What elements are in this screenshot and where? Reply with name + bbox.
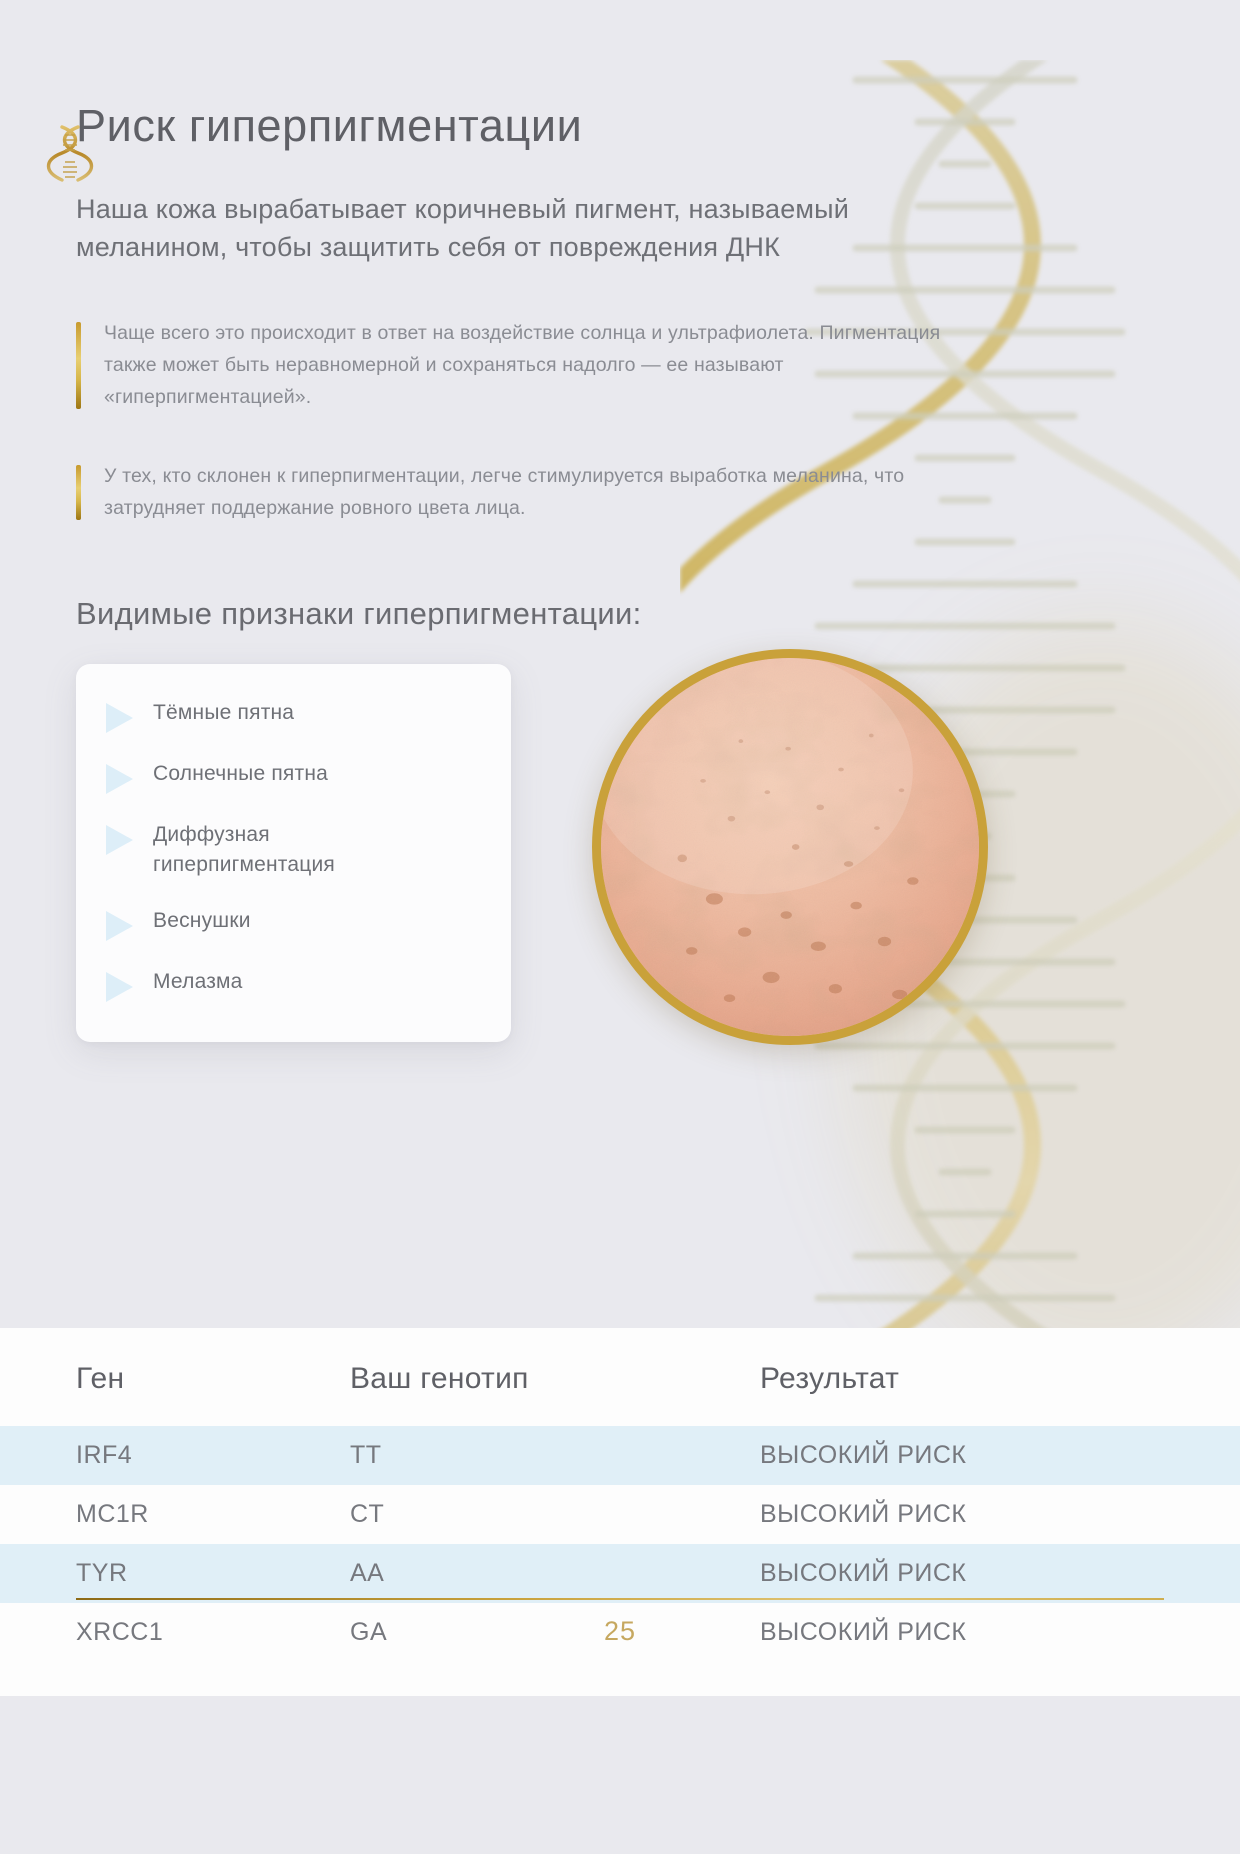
status-badge: ВЫСОКИЙ РИСК	[760, 1544, 1240, 1603]
cell-gene: IRF4	[0, 1426, 350, 1485]
cell-gene: MC1R	[0, 1485, 350, 1544]
page-number: 25	[0, 1616, 1240, 1647]
triangle-right-icon	[106, 825, 133, 855]
cell-genotype: TT	[350, 1426, 760, 1485]
gold-accent-bar	[76, 322, 81, 409]
list-item: Веснушки	[106, 906, 481, 941]
list-item-label: Тёмные пятна	[153, 698, 294, 728]
dna-helix-icon	[44, 122, 96, 188]
list-item: Диффузная гиперпигментация	[106, 820, 481, 880]
status-badge: ВЫСОКИЙ РИСК	[760, 1426, 1240, 1485]
callout-1: Чаще всего это происходит в ответ на воз…	[76, 318, 976, 413]
triangle-right-icon	[106, 911, 133, 941]
callout-2-text: У тех, кто склонен к гиперпигментации, л…	[104, 461, 976, 524]
signs-card: Тёмные пятна Солнечные пятна Диффузная г…	[76, 664, 511, 1042]
table-row: MC1R CT ВЫСОКИЙ РИСК	[0, 1485, 1240, 1544]
page-lede: Наша кожа вырабатывает коричневый пигмен…	[76, 190, 956, 267]
footer-divider	[76, 1598, 1164, 1600]
triangle-right-icon	[106, 764, 133, 794]
table-row: IRF4 TT ВЫСОКИЙ РИСК	[0, 1426, 1240, 1485]
table-row: TYR AA ВЫСОКИЙ РИСК	[0, 1544, 1240, 1603]
triangle-right-icon	[106, 972, 133, 1002]
triangle-right-icon	[106, 703, 133, 733]
column-header-result: Результат	[760, 1328, 1240, 1426]
signs-section-heading: Видимые признаки гиперпигментации:	[76, 596, 1240, 632]
skin-hyperpigmentation-photo	[592, 649, 988, 1045]
column-header-genotype: Ваш генотип	[350, 1328, 760, 1426]
gold-accent-bar	[76, 465, 81, 520]
list-item-label: Диффузная гиперпигментация	[153, 820, 453, 880]
list-item: Солнечные пятна	[106, 759, 481, 794]
list-item: Мелазма	[106, 967, 481, 1002]
list-item-label: Веснушки	[153, 906, 251, 936]
page-footer: 25	[0, 1598, 1240, 1658]
list-item: Тёмные пятна	[106, 698, 481, 733]
cell-genotype: CT	[350, 1485, 760, 1544]
list-item-label: Мелазма	[153, 967, 243, 997]
page-title: Риск гиперпигментации	[76, 100, 1240, 152]
signs-section: Тёмные пятна Солнечные пятна Диффузная г…	[76, 664, 1240, 1042]
status-badge: ВЫСОКИЙ РИСК	[760, 1485, 1240, 1544]
callout-2: У тех, кто склонен к гиперпигментации, л…	[76, 461, 976, 524]
column-header-gene: Ген	[0, 1328, 350, 1426]
table-header-row: Ген Ваш генотип Результат	[0, 1328, 1240, 1426]
page-content: Риск гиперпигментации Наша кожа вырабаты…	[0, 100, 1240, 1042]
list-item-label: Солнечные пятна	[153, 759, 328, 789]
cell-gene: TYR	[0, 1544, 350, 1603]
cell-genotype: AA	[350, 1544, 760, 1603]
callout-1-text: Чаще всего это происходит в ответ на воз…	[104, 318, 976, 413]
table-bottom-spacer	[0, 1662, 1240, 1696]
